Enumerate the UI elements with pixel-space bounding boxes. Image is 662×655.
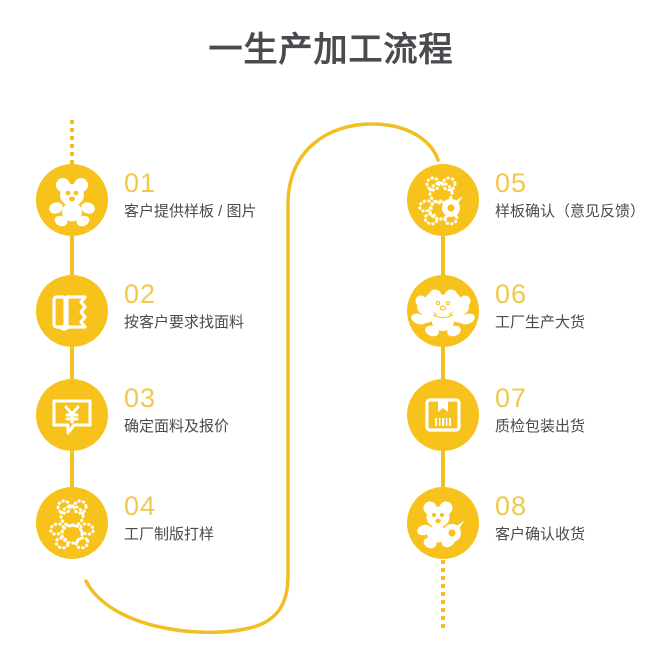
step-label-03: 确定面料及报价 [124,416,324,438]
step-text-02: 02 按客户要求找面料 [124,279,324,334]
teddy-bear-icon [36,164,108,236]
process-flow-infographic: 一生产加工流程 [0,0,662,655]
step-text-06: 06 工厂生产大货 [495,279,662,334]
step-text-04: 04 工厂制版打样 [124,491,324,546]
step-badge-06 [407,275,479,347]
step-text-08: 08 客户确认收货 [495,491,662,546]
step-number-05: 05 [495,168,662,198]
step-text-05: 05 样板确认（意见反馈） [495,168,662,223]
step-number-08: 08 [495,491,662,521]
step-badge-05 [407,164,479,236]
step-badge-01 [36,164,108,236]
fabric-roll-icon [36,275,108,347]
step-number-07: 07 [495,383,662,413]
step-text-01: 01 客户提供样板 / 图片 [124,168,324,223]
flow-step-01[interactable]: 01 客户提供样板 / 图片 [36,164,286,240]
flow-step-07[interactable]: 07 质检包装出货 [407,379,657,455]
multiple-bears-icon [407,275,479,347]
flow-step-05[interactable]: 05 样板确认（意见反馈） [407,164,657,240]
step-label-04: 工厂制版打样 [124,524,324,546]
step-label-08: 客户确认收货 [495,524,662,546]
package-box-barcode-icon [407,379,479,451]
step-badge-03 [36,379,108,451]
step-text-03: 03 确定面料及报价 [124,383,324,438]
step-number-03: 03 [124,383,324,413]
bear-check-icon [407,487,479,559]
step-text-07: 07 质检包装出货 [495,383,662,438]
step-number-02: 02 [124,279,324,309]
flow-step-03[interactable]: 03 确定面料及报价 [36,379,286,455]
step-label-07: 质检包装出货 [495,416,662,438]
step-label-02: 按客户要求找面料 [124,312,324,334]
flow-step-08[interactable]: 08 客户确认收货 [407,487,657,563]
yen-quote-bubble-icon [36,379,108,451]
step-number-04: 04 [124,491,324,521]
step-number-01: 01 [124,168,324,198]
step-label-05: 样板确认（意见反馈） [495,201,662,223]
step-badge-04 [36,487,108,559]
step-badge-08 [407,487,479,559]
step-badge-07 [407,379,479,451]
flow-step-02[interactable]: 02 按客户要求找面料 [36,275,286,351]
step-number-06: 06 [495,279,662,309]
step-label-06: 工厂生产大货 [495,312,662,334]
step-badge-02 [36,275,108,347]
connector-bottom-uturn [86,575,288,632]
flow-step-06[interactable]: 06 工厂生产大货 [407,275,657,351]
step-label-01: 客户提供样板 / 图片 [124,201,324,223]
flow-step-04[interactable]: 04 工厂制版打样 [36,487,286,563]
dotted-bear-pattern-icon [36,487,108,559]
dotted-bear-check-icon [407,164,479,236]
